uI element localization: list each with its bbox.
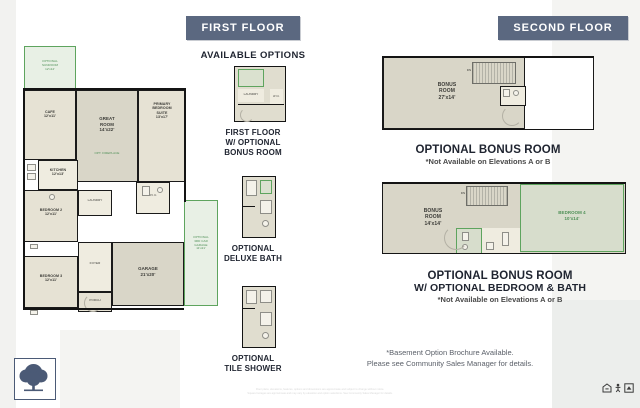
- option-first-floor-with-optional-bonus-room: LAUNDRY W.I.C. FIRST FLOOR W/ OPTIONAL B…: [186, 66, 320, 162]
- legal-fineprint: Floor plans, elevations, features, optio…: [110, 388, 530, 396]
- room-label-primary-bedroom-suite: PRIMARY BEDROOM SUITE 13'x17': [138, 102, 186, 120]
- option-3-shower: [260, 290, 272, 303]
- fixture-tub: [142, 186, 150, 196]
- fixture-toilet: [157, 187, 163, 193]
- option-3-linen: [246, 290, 257, 304]
- wall-bottom: [24, 308, 184, 310]
- option-2-tub: [246, 180, 257, 196]
- plan-a-bonus-room-label: BONUS ROOM 27'x14': [412, 82, 482, 101]
- option-2-wall: [243, 206, 255, 207]
- plan-a-caption-note: *Not Available on Elevations A or B: [382, 157, 594, 166]
- fixture-sink: [49, 194, 55, 200]
- room-label-foyer: FOYER: [78, 262, 112, 266]
- plan-b-caption-line2: W/ OPTIONAL BEDROOM & BATH: [372, 282, 628, 294]
- background-block-bottom: [60, 330, 180, 408]
- option-3-vanity: [260, 312, 272, 326]
- plan-b-stairs: [466, 186, 508, 206]
- room-great-room: [76, 90, 138, 182]
- plan-a-vanity: [503, 89, 510, 97]
- tree-logo: [14, 358, 56, 400]
- option-optional-deluxe-bath: OPTIONAL DELUXE BATH: [186, 176, 320, 266]
- option-2-vanity: [260, 200, 272, 214]
- room-label-laundry: LAUNDRY: [78, 199, 112, 203]
- plan-a-stairs: [472, 62, 516, 84]
- plan-b-wall-top: [382, 182, 626, 184]
- option-1-green-area: [238, 69, 264, 87]
- accessibility-icon: [614, 383, 622, 393]
- room-label-cafe: CAFE 12'x11': [24, 110, 76, 119]
- plan-b-wall-bottom: [382, 253, 626, 255]
- option-2-caption: OPTIONAL DELUXE BATH: [186, 244, 320, 264]
- plan-b-caption-line1: OPTIONAL BONUS ROOM: [372, 270, 628, 282]
- option-3-wall: [243, 308, 255, 309]
- option-3-caption: OPTIONAL TILE SHOWER: [186, 354, 320, 374]
- room-cafe: [24, 90, 76, 160]
- first-floor-banner: FIRST FLOOR: [186, 16, 300, 40]
- plan-b-stair-direction-label: DN: [458, 192, 468, 196]
- option-2-green-shower: [260, 180, 272, 194]
- plan-b-hall: [482, 228, 520, 254]
- room-label-great-room: GREAT ROOM 14'x22': [76, 116, 138, 133]
- plan-a-wall-bottom: [382, 129, 594, 131]
- plan-b-caption-note: *Not Available on Elevations A or B: [372, 295, 628, 304]
- fixture-counter: [27, 164, 36, 171]
- plan-b-closet: [502, 232, 509, 246]
- fixture-closet-2: [30, 310, 38, 315]
- plan-a-wall-top: [382, 56, 594, 58]
- room-label-garage: GARAGE 21'x20': [112, 266, 184, 277]
- brochure-page: FIRST FLOOR SECOND FLOOR AVAILABLE OPTIO…: [0, 0, 640, 408]
- room-label-kitchen: KITCHEN 12'x13': [38, 168, 78, 177]
- equal-housing-icon: [602, 383, 612, 393]
- option-optional-tile-shower: OPTIONAL TILE SHOWER: [186, 286, 320, 376]
- basement-option-footnote: *Basement Option Brochure Available. Ple…: [340, 348, 560, 370]
- equal-housing-icons: [600, 382, 634, 394]
- wall-left: [23, 88, 25, 310]
- room-foyer: [78, 242, 112, 292]
- wall-top: [24, 88, 186, 90]
- option-1-wic-label: W.I.C.: [270, 95, 283, 98]
- plan-b-shower: [486, 242, 494, 250]
- plan-a-door-swing: [502, 106, 522, 126]
- fixture-closet: [30, 244, 38, 249]
- plan-a-toilet: [513, 90, 519, 96]
- room-laundry: [78, 190, 112, 216]
- option-1-laundry-label: LAUNDRY: [238, 93, 264, 97]
- option-1-door-swing: [240, 108, 254, 122]
- plan-a-caption: OPTIONAL BONUS ROOM *Not Available on El…: [382, 144, 594, 166]
- plan-a-caption-line1: OPTIONAL BONUS ROOM: [382, 144, 594, 156]
- option-1-wall: [238, 104, 284, 105]
- second-floor-banner: SECOND FLOOR: [498, 16, 628, 40]
- room-label-bedroom-2: BEDROOM 2 12'x11': [24, 208, 78, 217]
- room-label-optional-fireplace: OPT. FIREPLACE: [78, 152, 136, 156]
- option-2-toilet: [262, 220, 269, 227]
- room-label-bedroom-3: BEDROOM 3 12'x11': [24, 274, 78, 283]
- plan-b-caption: OPTIONAL BONUS ROOM W/ OPTIONAL BEDROOM …: [372, 270, 628, 304]
- option-1-caption: FIRST FLOOR W/ OPTIONAL BONUS ROOM: [186, 128, 320, 158]
- plan-b-bonus-room-label: BONUS ROOM 14'x14': [400, 208, 466, 227]
- option-3-toilet: [262, 332, 269, 339]
- room-label-optional-sunroom: OPTIONAL SUNROOM 12'x12': [24, 60, 76, 71]
- plan-a-stair-direction-label: DN: [464, 69, 474, 73]
- builder-mark-icon: [624, 383, 634, 393]
- fixture-range: [27, 173, 36, 180]
- second-floor-plan-a: BONUS ROOM 27'x14' DN: [382, 56, 594, 142]
- plan-b-door-swing: [444, 226, 468, 250]
- second-floor-plan-b: BONUS ROOM 14'x14' DN BEDROOM 4 10'x14': [382, 182, 626, 266]
- plan-b-bedroom-4-label: BEDROOM 4 10'x14': [532, 210, 612, 221]
